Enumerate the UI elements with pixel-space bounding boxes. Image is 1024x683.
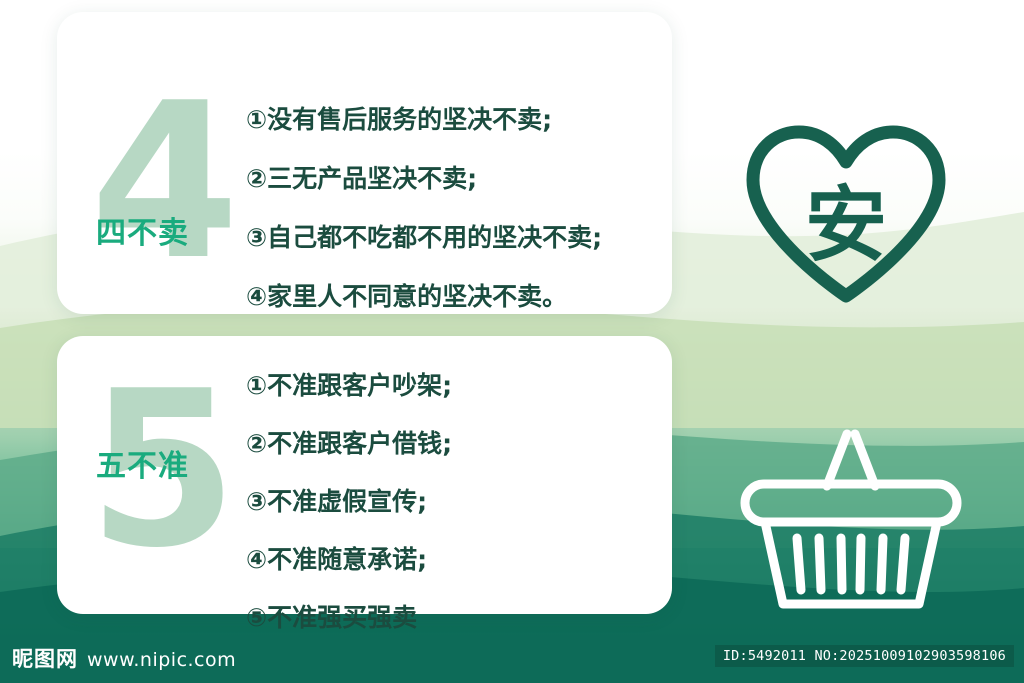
watermark-url-label: www.nipic.com [87, 649, 236, 671]
list-item: ②三无产品坚决不卖; [246, 159, 602, 195]
list-item: ②不准跟客户借钱; [246, 424, 452, 460]
list-item: ①没有售后服务的坚决不卖; [246, 100, 602, 136]
image-id-badge: ID:5492011 NO:20251009102903598106 [715, 645, 1014, 667]
list-item: ③不准虚假宣传; [246, 482, 452, 518]
big-number-four: 4 [90, 74, 236, 289]
list-four-no-sell: ①没有售后服务的坚决不卖; ②三无产品坚决不卖; ③自己都不吃都不用的坚决不卖;… [246, 100, 602, 336]
list-item: ④不准随意承诺; [246, 540, 452, 576]
poster-canvas: 4 四不卖 ①没有售后服务的坚决不卖; ②三无产品坚决不卖; ③自己都不吃都不用… [0, 0, 1024, 683]
watermark-cn-label: 昵图网 [12, 643, 78, 673]
shopping-basket-icon [731, 418, 971, 618]
list-five-no-allow: ①不准跟客户吵架; ②不准跟客户借钱; ③不准虚假宣传; ④不准随意承诺; ⑤不… [246, 366, 452, 656]
nipic-watermark: 昵图网 www.nipic.com [12, 643, 236, 673]
list-item: ①不准跟客户吵架; [246, 366, 452, 402]
list-item: ⑤不准强买强卖 [246, 598, 452, 634]
heart-safety-character: 安 [737, 118, 955, 308]
badge-four-no-sell: 四不卖 [96, 208, 189, 252]
list-item: ③自己都不吃都不用的坚决不卖; [246, 218, 602, 254]
footer-bar: 昵图网 www.nipic.com ID:5492011 NO:20251009… [0, 633, 1024, 683]
list-item: ④家里人不同意的坚决不卖。 [246, 277, 602, 313]
badge-five-no-allow: 五不准 [96, 441, 189, 485]
